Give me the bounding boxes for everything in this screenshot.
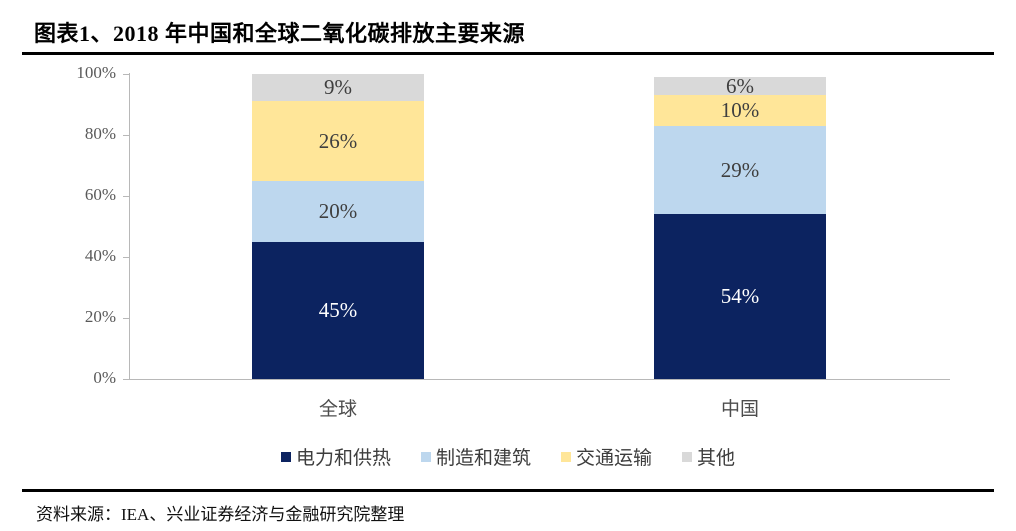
y-axis-tick [123, 318, 129, 319]
y-axis-tick [123, 135, 129, 136]
plot-area: 45%20%26%9%54%29%10%6% [130, 74, 950, 379]
chart-legend: 电力和供热制造和建筑交通运输其他 [0, 443, 1016, 470]
y-axis-tick-label: 80% [52, 124, 116, 144]
legend-swatch-icon [561, 452, 571, 462]
legend-item[interactable]: 交通运输 [561, 443, 652, 470]
bar-segment-label: 10% [721, 100, 760, 121]
bar-segment-label: 54% [721, 286, 760, 307]
y-axis-tick-label: 100% [52, 63, 116, 83]
legend-swatch-icon [421, 452, 431, 462]
x-axis-label-1: 全球 [278, 394, 398, 421]
x-axis-line [129, 379, 950, 380]
bar-segment-label: 20% [319, 201, 358, 222]
y-axis-tick-label: 20% [52, 307, 116, 327]
legend-label: 制造和建筑 [436, 443, 531, 470]
y-axis-tick-label: 40% [52, 246, 116, 266]
bar-segment-label: 29% [721, 160, 760, 181]
bar-segment-label: 45% [319, 300, 358, 321]
bar-segment-label: 6% [726, 76, 754, 97]
legend-label: 其他 [697, 443, 735, 470]
page-title: 图表1、2018 年中国和全球二氧化碳排放主要来源 [34, 16, 525, 48]
y-axis-tick-label: 60% [52, 185, 116, 205]
bar-segment[interactable]: 20% [252, 181, 424, 242]
bar-segment[interactable]: 6% [654, 77, 826, 95]
y-axis-tick [123, 196, 129, 197]
legend-item[interactable]: 其他 [682, 443, 735, 470]
chart-figure: 图表1、2018 年中国和全球二氧化碳排放主要来源 0%20%40%60%80%… [0, 0, 1016, 531]
legend-label: 电力和供热 [296, 443, 391, 470]
title-divider [22, 52, 994, 55]
legend-swatch-icon [682, 452, 692, 462]
bar-segment[interactable]: 54% [654, 214, 826, 379]
legend-label: 交通运输 [576, 443, 652, 470]
legend-item[interactable]: 电力和供热 [281, 443, 391, 470]
source-note: 资料来源：IEA、兴业证券经济与金融研究院整理 [36, 500, 404, 525]
x-axis-label-2: 中国 [680, 394, 800, 421]
bar-segment[interactable]: 10% [654, 95, 826, 126]
bar-1[interactable]: 45%20%26%9% [252, 74, 424, 379]
bar-segment[interactable]: 45% [252, 242, 424, 379]
bar-segment-label: 26% [319, 131, 358, 152]
bar-segment[interactable]: 26% [252, 101, 424, 180]
bar-segment-label: 9% [324, 77, 352, 98]
y-axis-tick [123, 257, 129, 258]
bar-segment[interactable]: 9% [252, 74, 424, 101]
bar-segment[interactable]: 29% [654, 126, 826, 214]
y-axis-tick-label: 0% [52, 368, 116, 388]
legend-swatch-icon [281, 452, 291, 462]
y-axis-tick [123, 379, 129, 380]
y-axis-tick [123, 74, 129, 75]
bar-2[interactable]: 54%29%10%6% [654, 74, 826, 379]
footer-divider [22, 489, 994, 492]
legend-item[interactable]: 制造和建筑 [421, 443, 531, 470]
